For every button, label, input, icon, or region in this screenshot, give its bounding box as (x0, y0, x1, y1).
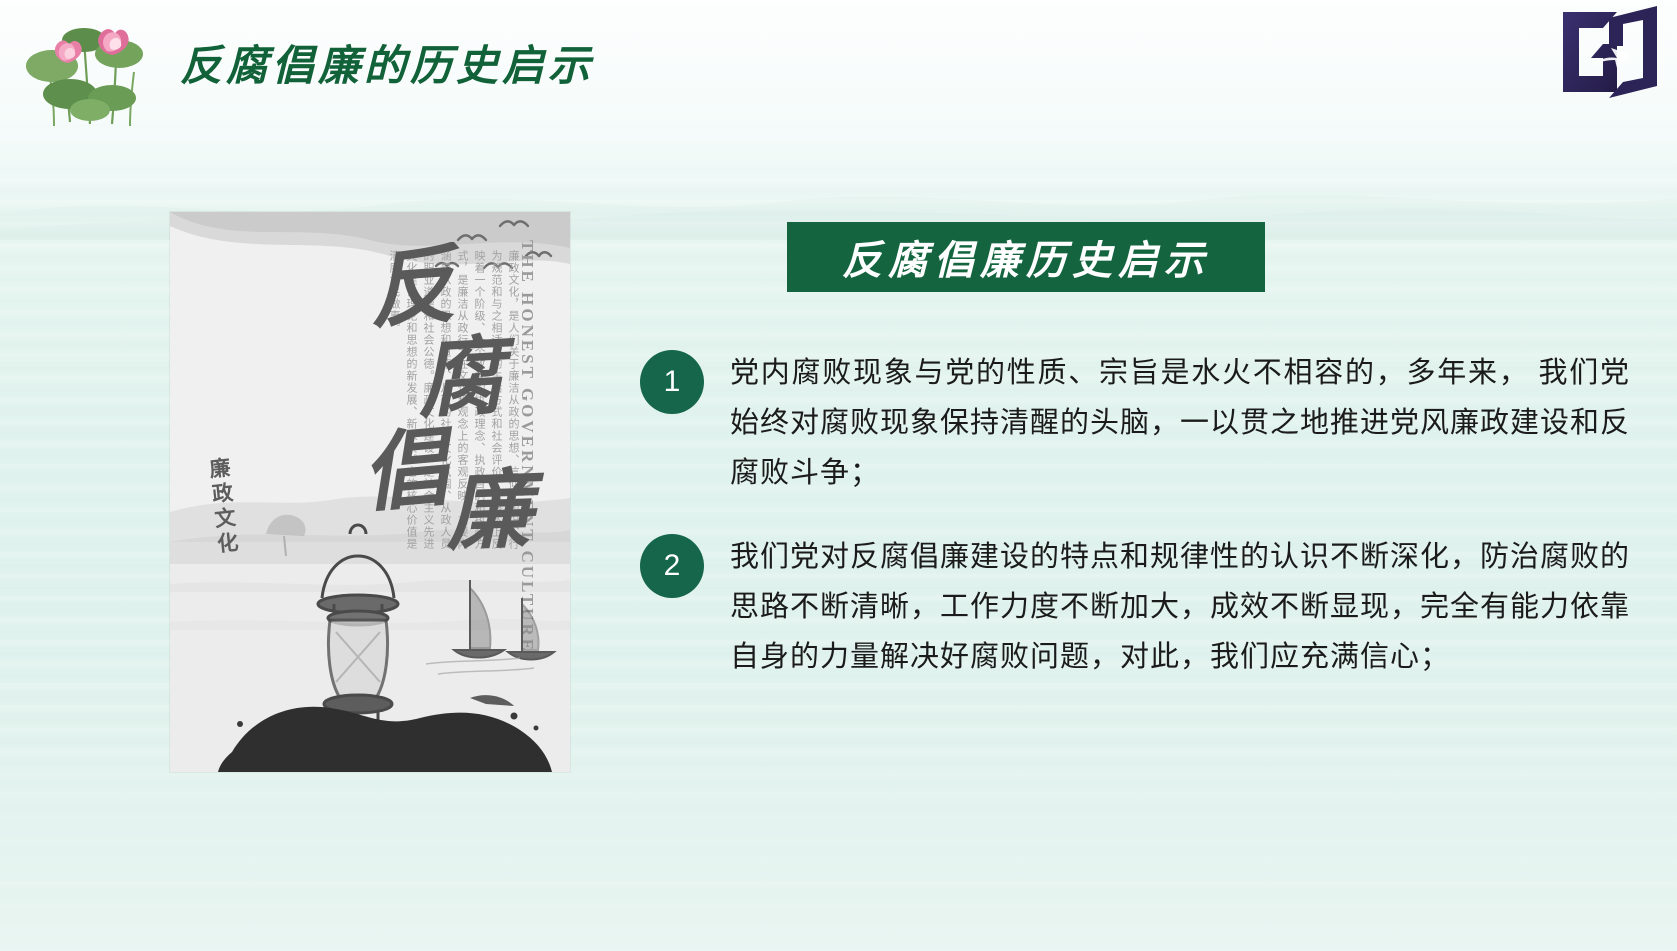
slide-root: 反腐倡廉的历史启示 (0, 0, 1677, 951)
section-banner: 反腐倡廉历史启示 (787, 222, 1265, 292)
poster-image: 廉政文化，是人们关于廉洁从政的思想、信仰、知识、行为规范和与之相适应的生活方式和… (170, 212, 570, 772)
bullet-number-badge: 1 (640, 350, 704, 414)
brand-logo-icon (1551, 2, 1669, 102)
bullet-text: 我们党对反腐倡廉建设的特点和规律性的认识不断深化，防治腐败的思路不断清晰，工作力… (730, 532, 1630, 682)
ink-splash-icon (170, 212, 570, 772)
lotus-flower-icon (24, 10, 169, 130)
bullet-text: 党内腐败现象与党的性质、宗旨是水火不相容的，多年来， 我们党始终对腐败现象保持清… (730, 348, 1630, 498)
list-item: 1 党内腐败现象与党的性质、宗旨是水火不相容的，多年来， 我们党始终对腐败现象保… (640, 348, 1650, 498)
bullet-number-badge: 2 (640, 534, 704, 598)
section-banner-text: 反腐倡廉历史启示 (842, 228, 1210, 286)
list-item: 2 我们党对反腐倡廉建设的特点和规律性的认识不断深化，防治腐败的思路不断清晰，工… (640, 532, 1650, 682)
page-title: 反腐倡廉的历史启示 (180, 32, 594, 93)
bullet-list: 1 党内腐败现象与党的性质、宗旨是水火不相容的，多年来， 我们党始终对腐败现象保… (640, 348, 1650, 716)
